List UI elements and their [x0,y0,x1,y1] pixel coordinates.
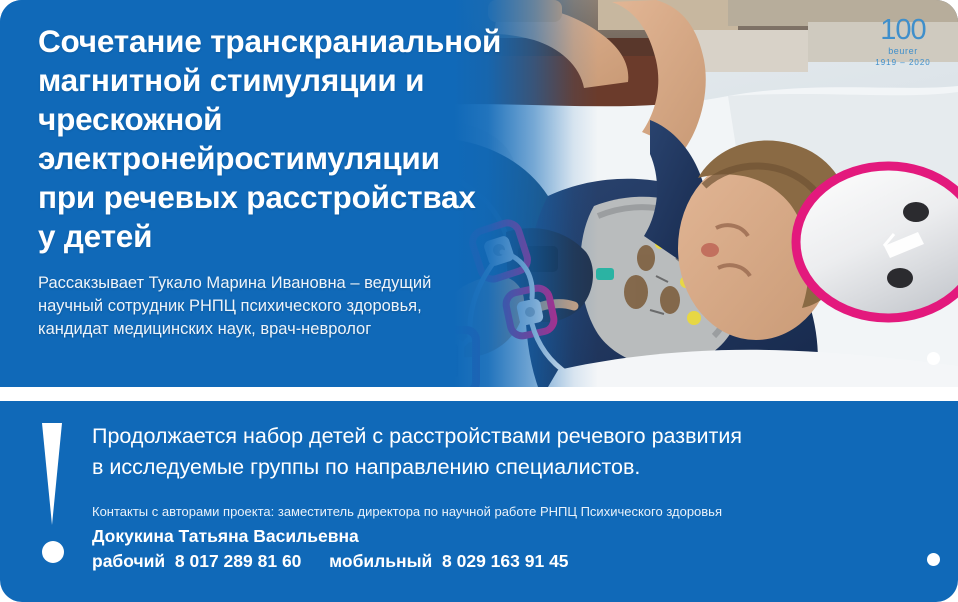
logo-brand-name: beurer [864,45,942,57]
logo-anniversary-number: 100 [864,16,942,45]
contacts-lead-text: Контакты с авторами проекта: заместитель… [92,502,942,521]
callout-text: Продолжается набор детей с расстройствам… [92,421,932,483]
bottom-panel: Продолжается набор детей с расстройствам… [0,401,958,602]
panel-divider [0,387,958,401]
callout-block: Продолжается набор детей с расстройствам… [92,421,932,483]
logo-years: 1919 – 2020 [864,57,942,68]
contacts-block: Контакты с авторами проекта: заместитель… [92,502,942,573]
headline-block: Сочетание транскраниальной магнитной сти… [38,22,598,341]
phone-mobile-value[interactable]: 8 029 163 91 45 [442,551,569,571]
photo-corner-dot [927,352,940,365]
exclamation-mark-stroke [42,423,62,525]
exclamation-mark-dot [42,541,64,563]
top-panel: Сочетание транскраниальной магнитной сти… [0,0,958,387]
contact-person-name: Докукина Татьяна Васильевна [92,524,942,548]
phone-work-value[interactable]: 8 017 289 81 60 [175,551,302,571]
beurer-100-logo: 100 beurer 1919 – 2020 [864,16,942,68]
contact-phones: рабочий 8 017 289 81 60 мобильный 8 029 … [92,549,942,573]
bottom-corner-dot [927,553,940,566]
page-title: Сочетание транскраниальной магнитной сти… [38,22,598,256]
tms-coil [796,166,958,318]
phone-mobile-label: мобильный [329,551,432,571]
page-subtitle: Рассакзывает Тукало Марина Ивановна – ве… [38,272,598,341]
phone-work-label: рабочий [92,551,165,571]
presentation-slide: Сочетание транскраниальной магнитной сти… [0,0,958,602]
